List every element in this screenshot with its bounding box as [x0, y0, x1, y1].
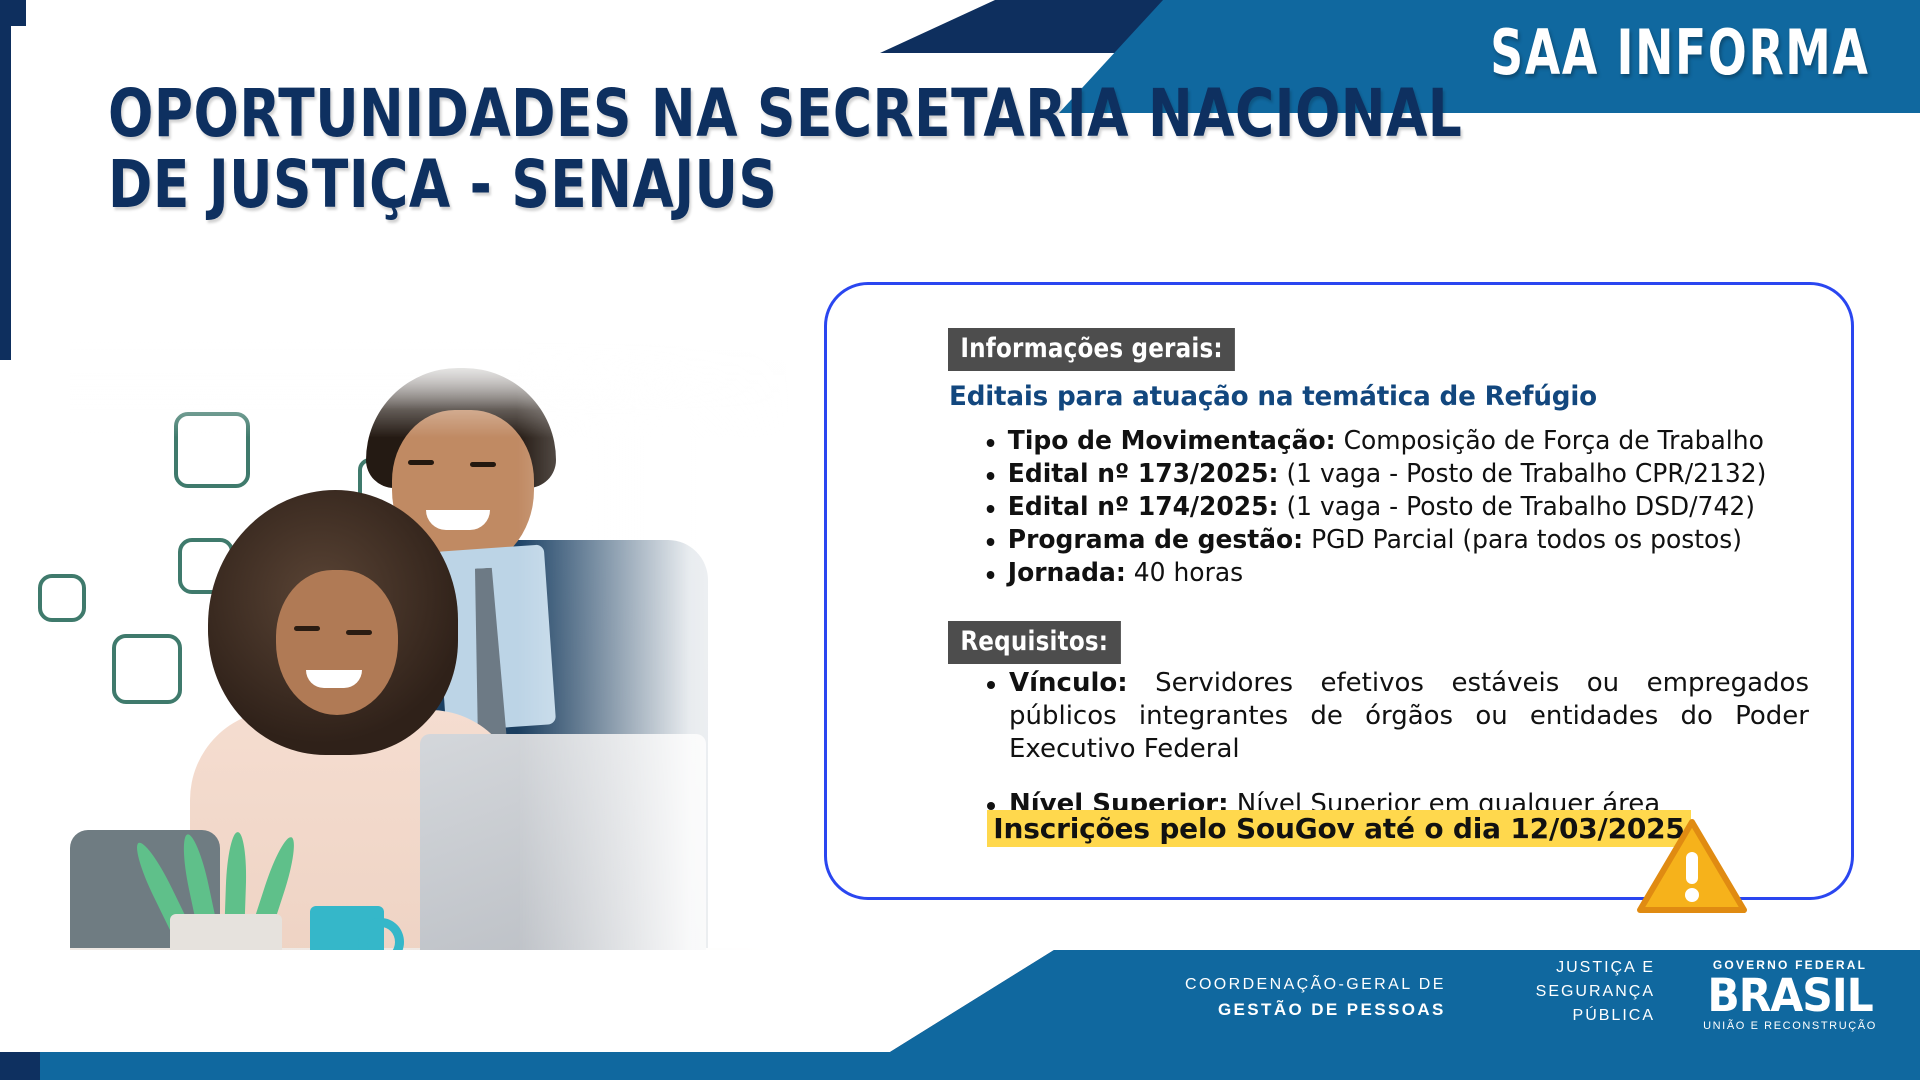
cggp-line-2: GESTÃO DE PESSOAS [1185, 997, 1446, 1022]
list-item-label: Vínculo: [1009, 668, 1128, 698]
photo-fade-top [70, 340, 790, 410]
list-item: Edital nº 173/2025: (1 vaga - Posto de T… [979, 458, 1805, 491]
warning-triangle-icon [1636, 818, 1748, 914]
list-item: Tipo de Movimentação: Composição de Forç… [979, 425, 1805, 458]
list-item-value: Servidores efetivos estáveis ou empregad… [1009, 668, 1809, 764]
cggp-line-1: COORDENAÇÃO-GERAL DE [1185, 972, 1446, 997]
list-item-label: Jornada: [1008, 558, 1126, 588]
list-item: Programa de gestão: PGD Parcial (para to… [979, 524, 1805, 557]
info-section-tag: Informações gerais: [948, 328, 1235, 371]
list-item-value: Composição de Força de Trabalho [1344, 426, 1764, 456]
footer-bottom-strip-accent [0, 1052, 40, 1080]
list-item-value: (1 vaga - Posto de Trabalho DSD/742) [1286, 492, 1755, 522]
poster-canvas: SAA INFORMA OPORTUNIDADES NA SECRETARIA … [0, 0, 1920, 1080]
ministry-line-2: JUSTIÇA E [1455, 956, 1655, 980]
card-subheading: Editais para atuação na temática de Refú… [949, 381, 1783, 412]
registration-callout-text: Inscrições pelo SouGov até o dia 12/03/2… [987, 810, 1690, 847]
list-item-label: Edital nº 173/2025: [1008, 459, 1279, 489]
brasil-government-logo: GOVERNO FEDERAL BRASIL UNIÃO E RECONSTRU… [1690, 958, 1890, 1032]
footer-bottom-strip [0, 1052, 1920, 1080]
requirements-section-tag: Requisitos: [948, 621, 1121, 664]
info-card: Informações gerais: Editais para atuação… [824, 282, 1854, 900]
page-title-line-1: OPORTUNIDADES NA SECRETARIA NACIONAL [108, 78, 1143, 149]
coordination-logo-text: COORDENAÇÃO-GERAL DE GESTÃO DE PESSOAS [1185, 972, 1446, 1022]
list-item: Vínculo: Servidores efetivos estáveis ou… [979, 667, 1809, 766]
list-item-label: Edital nº 174/2025: [1008, 492, 1279, 522]
top-left-corner-accent [0, 0, 26, 26]
ministry-line-1: MINIISTÉRIO DA [1455, 932, 1655, 956]
photo-fade-overlay [70, 340, 790, 1040]
list-item-label: Programa de gestão: [1008, 525, 1303, 555]
list-item-value: 40 horas [1134, 558, 1243, 588]
list-item: Edital nº 174/2025: (1 vaga - Posto de T… [979, 491, 1805, 524]
list-item: Jornada: 40 horas [979, 557, 1805, 590]
page-title: OPORTUNIDADES NA SECRETARIA NACIONAL DE … [108, 78, 1258, 221]
left-navy-edge [0, 0, 11, 360]
banner-title: SAA INFORMA [1491, 16, 1870, 89]
general-info-list: Tipo de Movimentação: Composição de Forç… [979, 425, 1839, 590]
list-item-value: (1 vaga - Posto de Trabalho CPR/2132) [1286, 459, 1766, 489]
ministry-line-3: SEGURANÇA PÚBLICA [1455, 980, 1655, 1028]
footer: COORDENAÇÃO-GERAL DE GESTÃO DE PESSOAS M… [0, 950, 1920, 1080]
page-title-line-2: DE JUSTIÇA - SENAJUS [108, 149, 1143, 220]
brasil-logo-main: BRASIL [1685, 972, 1895, 1020]
list-item-label: Tipo de Movimentação: [1008, 426, 1336, 456]
people-at-laptop-photo [70, 340, 790, 1040]
ministry-logo-text: MINIISTÉRIO DA JUSTIÇA E SEGURANÇA PÚBLI… [1455, 932, 1655, 1028]
list-item-value: PGD Parcial (para todos os postos) [1311, 525, 1742, 555]
